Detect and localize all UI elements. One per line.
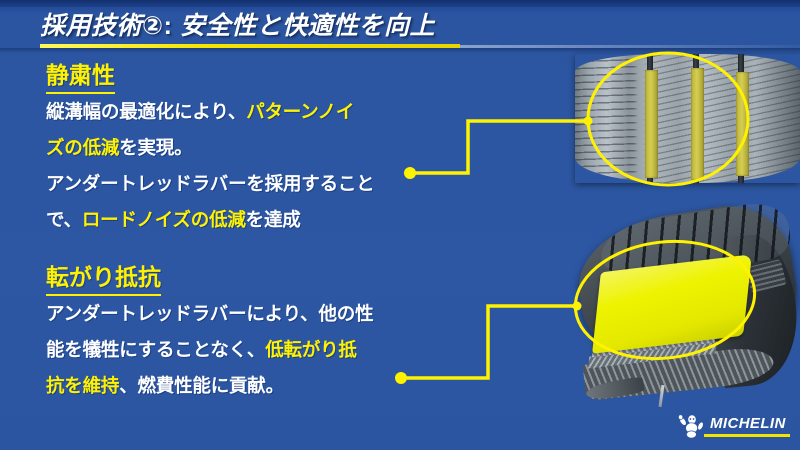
text-run-highlight: ロードノイズの低減 — [82, 209, 246, 230]
michelin-logo: MICHELIN — [672, 412, 790, 442]
section-heading-rolling-resistance: 転がり抵抗 — [46, 260, 161, 296]
paragraph-line: アンダートレッドラバーを採用すること — [46, 166, 416, 202]
tire-tread-photo — [575, 54, 800, 183]
slide-root: 採用技術②: 安全性と快適性を向上 静粛性 縦溝幅の最適化により、パターンノイ … — [0, 0, 800, 450]
text-run: 能を犠牲にすることなく、 — [46, 339, 265, 360]
text-run: 、燃費性能に貢献。 — [119, 375, 284, 396]
section-spacer — [46, 238, 416, 260]
groove-highlight — [736, 72, 749, 176]
header-shadow — [0, 48, 800, 53]
top-band — [0, 0, 800, 7]
groove-highlight — [691, 68, 704, 180]
section-heading-quietness: 静粛性 — [46, 58, 115, 94]
text-run: アンダートレッドラバーを採用すること — [46, 173, 374, 194]
section-rolling-resistance: 転がり抵抗 アンダートレッドラバーにより、他の性 能を犠牲にすることなく、低転が… — [46, 260, 416, 404]
tire-cutaway-photo — [560, 205, 800, 395]
groove-highlight — [645, 70, 658, 178]
text-run-highlight: ズの低減 — [46, 137, 119, 158]
section-quietness: 静粛性 縦溝幅の最適化により、パターンノイ ズの低減を実現。 アンダートレッドラ… — [46, 58, 416, 238]
michelin-logo-bar — [704, 434, 790, 437]
paragraph-line: 能を犠牲にすることなく、低転がり抵 — [46, 332, 416, 368]
bibendum-icon — [672, 412, 712, 442]
text-column: 静粛性 縦溝幅の最適化により、パターンノイ ズの低減を実現。 アンダートレッドラ… — [46, 58, 416, 404]
tread-surface — [575, 54, 800, 183]
paragraph-line: 抗を維持、燃費性能に貢献。 — [46, 368, 416, 404]
michelin-wordmark: MICHELIN — [710, 415, 786, 432]
text-run: で、 — [46, 209, 82, 230]
paragraph-line: 縦溝幅の最適化により、パターンノイ — [46, 94, 416, 130]
text-run-highlight: 抗を維持 — [46, 375, 119, 396]
paragraph-line: ズの低減を実現。 — [46, 130, 416, 166]
page-title-separator: : — [164, 12, 180, 40]
connector-line-top — [412, 121, 588, 173]
text-run: アンダートレッドラバーにより、他の性 — [46, 303, 373, 324]
text-run-highlight: 低転がり抵 — [265, 339, 357, 360]
connector-line-bottom — [402, 306, 577, 378]
paragraph-line: アンダートレッドラバーにより、他の性 — [46, 296, 416, 332]
page-title: 採用技術②: 安全性と快適性を向上 — [40, 8, 740, 44]
text-run-highlight: パターンノイ — [246, 101, 354, 122]
text-run: 縦溝幅の最適化により、 — [46, 101, 246, 122]
text-run: を実現。 — [119, 137, 192, 158]
page-title-rest: 安全性と快適性を向上 — [180, 12, 435, 40]
paragraph-line: で、ロードノイズの低減を達成 — [46, 202, 416, 238]
page-title-main: 採用技術② — [40, 12, 164, 40]
text-run: を達成 — [246, 209, 301, 230]
